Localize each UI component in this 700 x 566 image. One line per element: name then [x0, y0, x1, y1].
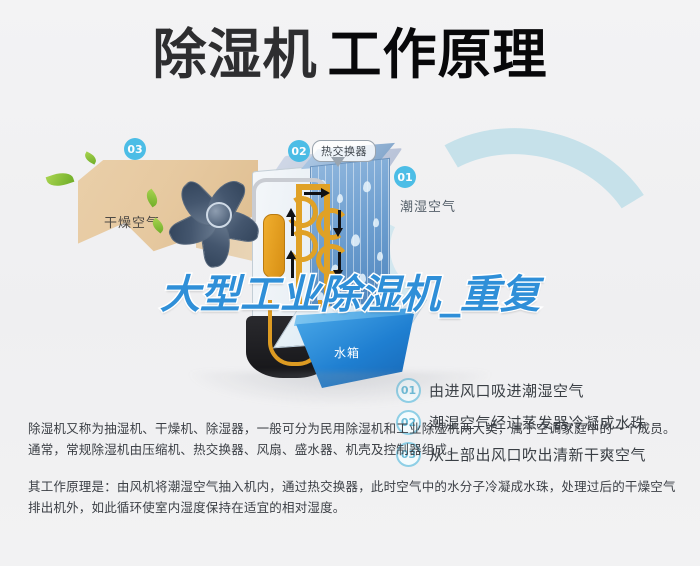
flow-arrow-down-icon [338, 210, 341, 230]
flow-arrow-down-icon [333, 270, 343, 279]
diagram-reflection [190, 372, 490, 406]
water-tank-label: 水箱 [334, 344, 360, 361]
heat-exchanger-badge-number: 02 [288, 140, 310, 162]
dehumidifier-diagram: 03 干燥空气 01 潮湿空气 [0, 118, 700, 408]
flow-arrow-up-icon [286, 250, 296, 259]
water-droplet-icon [351, 234, 360, 247]
dry-air-badge-number: 03 [124, 138, 146, 160]
water-droplet-icon [373, 218, 379, 228]
water-droplet-icon [377, 252, 383, 262]
humid-air-label: 潮湿空气 [400, 196, 456, 215]
humid-air-badge: 01 [394, 166, 416, 188]
flow-arrow-up-icon [286, 208, 296, 217]
flow-arrow-down-icon [333, 228, 343, 237]
page-root: 除湿机工作原理 03 干燥空气 01 潮湿空气 [0, 0, 700, 566]
page-title: 除湿机工作原理 [0, 28, 700, 82]
water-droplet-icon [337, 194, 343, 204]
flow-arrow-up-icon [291, 258, 294, 278]
flow-arrow-up-icon [291, 216, 294, 236]
leaf-icon [46, 169, 75, 189]
flow-arrow-right-icon [304, 192, 322, 195]
dry-air-badge: 03 [124, 138, 146, 160]
fan-hub-icon [206, 202, 232, 228]
heat-exchanger-badge: 02 [288, 140, 310, 162]
heat-exchanger-callout-tail-icon [331, 157, 345, 167]
fan-icon [178, 170, 266, 262]
compressor-icon [263, 214, 285, 278]
paragraph-intro: 除湿机又称为抽湿机、干燥机、除湿器，一般可分为民用除湿机和工业除湿机两大类，属于… [28, 418, 676, 460]
page-title-part1: 除湿机 [153, 23, 318, 86]
body-copy: 除湿机又称为抽湿机、干燥机、除湿器，一般可分为民用除湿机和工业除湿机两大类，属于… [28, 418, 676, 518]
humid-air-badge-number: 01 [394, 166, 416, 188]
page-title-part2: 工作原理 [328, 23, 548, 86]
flow-arrow-down-icon [338, 252, 341, 272]
paragraph-principle: 其工作原理是：由风机将潮湿空气抽入机内，通过热交换器，此时空气中的水分子冷凝成水… [28, 476, 676, 518]
water-droplet-icon [363, 181, 371, 193]
flow-arrow-right-icon [321, 188, 330, 198]
water-droplet-icon [359, 273, 366, 284]
leaf-icon [83, 151, 98, 164]
